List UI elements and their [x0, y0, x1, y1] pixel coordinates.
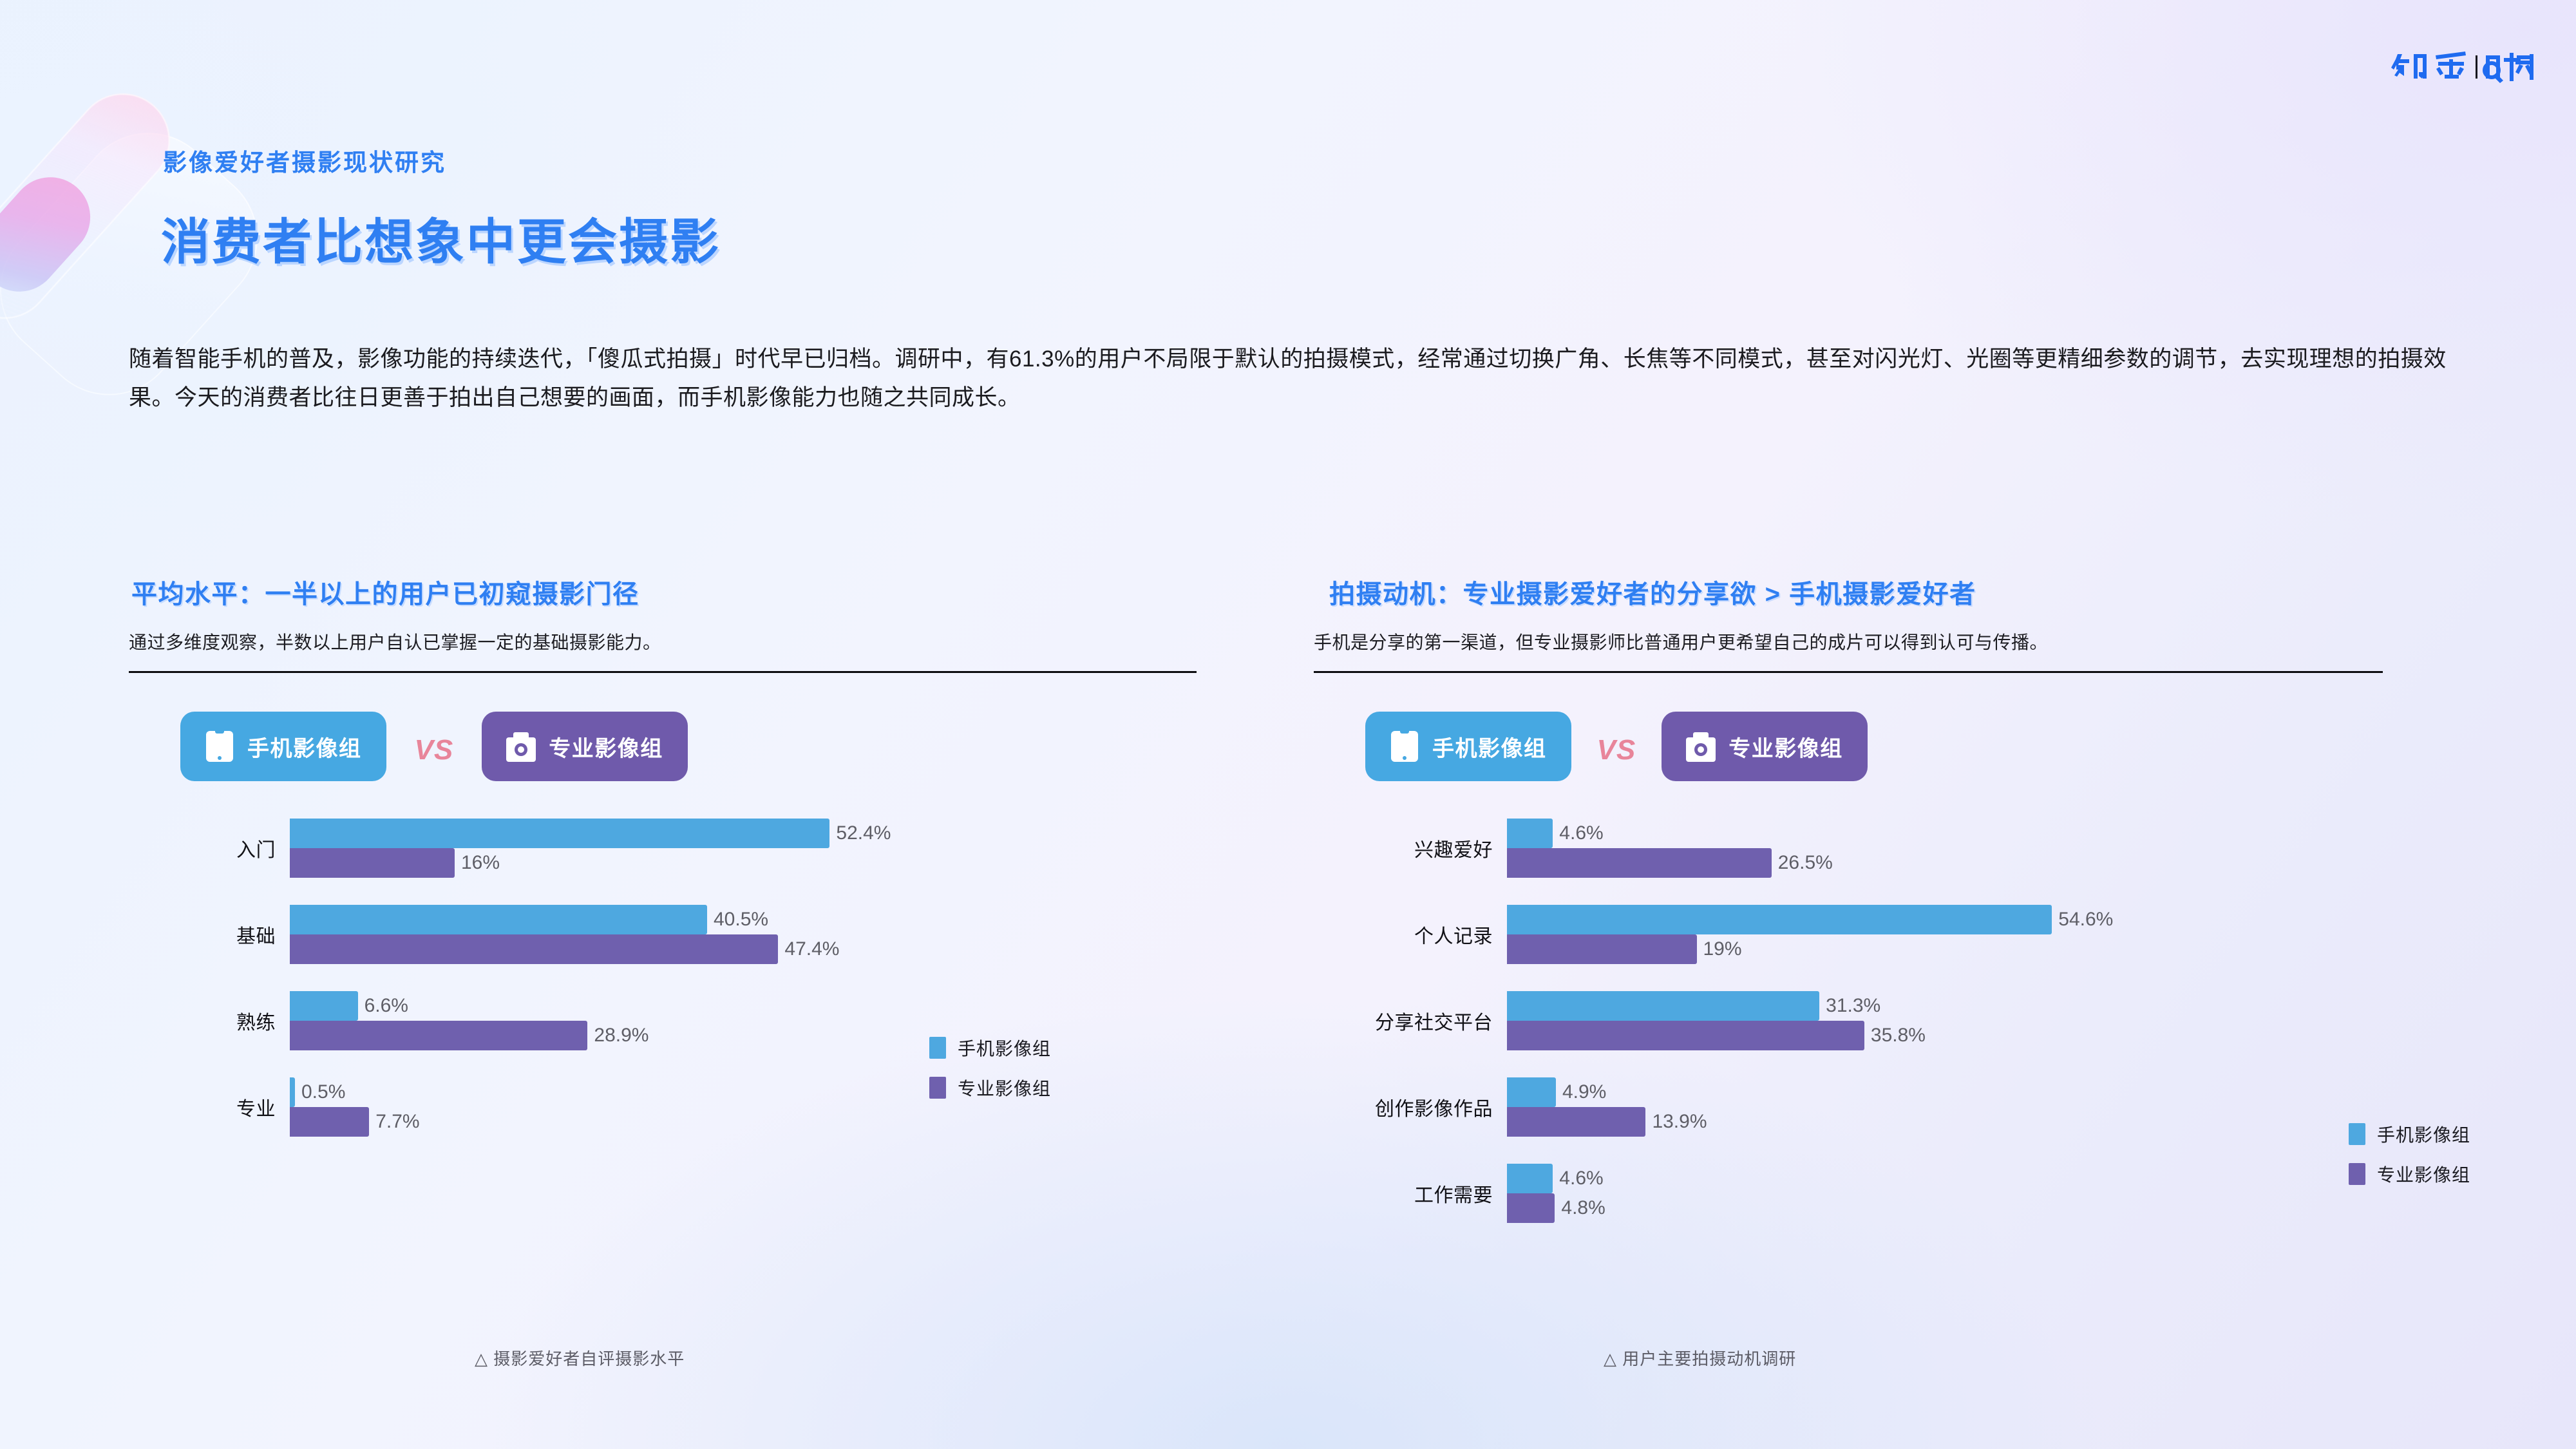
- row-spacer: [1314, 878, 2505, 905]
- legend-swatch-pro: [2349, 1163, 2365, 1185]
- bar-pair: 4.6% 26.5%: [1507, 819, 2505, 878]
- legend-label: 专业影像组: [2377, 1161, 2470, 1187]
- bar-value-label: 47.4%: [778, 938, 839, 960]
- category-label: 入门: [129, 834, 290, 862]
- category-label: 个人记录: [1314, 920, 1507, 949]
- bar-pro: 7.7%: [290, 1107, 1320, 1137]
- category-label: 基础: [129, 920, 290, 949]
- panel-subtitle: 手机是分享的第一渠道，但专业摄影师比普通用户更希望自己的成片可以得到认可与传播。: [1314, 629, 2505, 654]
- chip-phone-group[interactable]: 手机影像组: [180, 712, 386, 781]
- chip-label: 手机影像组: [1432, 731, 1547, 762]
- camera-icon: [506, 728, 536, 764]
- legend-item: 手机影像组: [2349, 1121, 2470, 1147]
- legend-item: 专业影像组: [929, 1075, 1051, 1101]
- category-label: 专业: [129, 1093, 290, 1121]
- bar-fill: [1507, 848, 1772, 878]
- chart-legend: 手机影像组 专业影像组: [2349, 1121, 2470, 1187]
- bar-value-label: 4.9%: [1556, 1081, 1606, 1103]
- bar-fill: [290, 848, 455, 878]
- logo-mark-zhihu: [2391, 46, 2539, 88]
- bar-value-label: 40.5%: [707, 909, 768, 931]
- bar-fill: [1507, 1021, 1864, 1050]
- row-spacer: [1314, 1050, 2505, 1077]
- bar-value-label: 0.5%: [295, 1081, 345, 1103]
- bar-value-label: 31.3%: [1819, 995, 1880, 1017]
- bar-value-label: 28.9%: [587, 1025, 649, 1046]
- bar-pair: 0.5% 7.7%: [290, 1077, 1320, 1137]
- row-spacer: [1314, 1137, 2505, 1164]
- chart-rows: 兴趣爱好 4.6% 26.5% 个人记录: [1314, 819, 2505, 1223]
- bar-pair: 54.6% 19%: [1507, 905, 2505, 964]
- bar-fill: [290, 934, 778, 964]
- bar-fill: [1507, 934, 1697, 964]
- bar-fill: [290, 1077, 295, 1107]
- bar-pro: 28.9%: [290, 1021, 1320, 1050]
- group-comparison-chips: 手机影像组 VS 专业影像组: [129, 712, 1320, 781]
- bar-fill: [290, 1107, 369, 1137]
- zhihu-research-logo: [2391, 46, 2539, 88]
- category-label: 创作影像作品: [1314, 1093, 1507, 1121]
- phone-icon: [1390, 728, 1419, 764]
- footnote-left: △ 摄影爱好者自评摄影水平: [475, 1346, 685, 1370]
- bar-phone: 54.6%: [1507, 905, 2505, 934]
- category-label: 工作需要: [1314, 1179, 1507, 1207]
- bar-pro: 26.5%: [1507, 848, 2505, 878]
- legend-label: 手机影像组: [958, 1035, 1051, 1061]
- bar-fill: [1507, 1077, 1556, 1107]
- bar-pro: 47.4%: [290, 934, 1320, 964]
- legend-swatch-phone: [2349, 1123, 2365, 1145]
- bar-phone: 40.5%: [290, 905, 1320, 934]
- chart-row: 专业 0.5% 7.7%: [129, 1077, 1320, 1137]
- bar-value-label: 6.6%: [358, 995, 408, 1017]
- bar-phone: 6.6%: [290, 991, 1320, 1021]
- legend-swatch-phone: [929, 1037, 946, 1059]
- group-comparison-chips: 手机影像组 VS 专业影像组: [1314, 712, 2505, 781]
- bar-pro: 19%: [1507, 934, 2505, 964]
- bar-value-label: 4.8%: [1555, 1197, 1605, 1219]
- legend-item: 专业影像组: [2349, 1161, 2470, 1187]
- bar-pair: 31.3% 35.8%: [1507, 991, 2505, 1050]
- bar-value-label: 16%: [455, 852, 500, 874]
- bar-fill: [290, 905, 707, 934]
- bar-value-label: 54.6%: [2052, 909, 2113, 931]
- category-label: 分享社交平台: [1314, 1007, 1507, 1035]
- chip-label: 专业影像组: [1728, 731, 1843, 762]
- vs-label: VS: [386, 734, 482, 766]
- bar-fill: [1507, 819, 1553, 848]
- legend-item: 手机影像组: [929, 1035, 1051, 1061]
- chart-row: 基础 40.5% 47.4%: [129, 905, 1320, 964]
- chart-legend: 手机影像组 专业影像组: [929, 1035, 1051, 1101]
- legend-swatch-pro: [929, 1077, 946, 1099]
- bar-phone: 52.4%: [290, 819, 1320, 848]
- deco-shape-front: [0, 161, 107, 308]
- bar-value-label: 4.6%: [1553, 822, 1603, 844]
- bar-phone: 4.6%: [1507, 819, 2505, 848]
- chip-phone-group[interactable]: 手机影像组: [1365, 712, 1571, 781]
- panel-shooting-motivation: 拍摄动机：专业摄影爱好者的分享欲 > 手机摄影爱好者 手机是分享的第一渠道，但专…: [1314, 573, 2505, 1223]
- panel-divider: [1314, 671, 2383, 673]
- chart-row: 创作影像作品 4.9% 13.9%: [1314, 1077, 2505, 1137]
- category-label: 兴趣爱好: [1314, 834, 1507, 862]
- chart-row: 个人记录 54.6% 19%: [1314, 905, 2505, 964]
- bar-value-label: 4.6%: [1553, 1168, 1603, 1189]
- panel-average-level: 平均水平：一半以上的用户已初窥摄影门径 通过多维度观察，半数以上用户自认已掌握一…: [129, 573, 1320, 1137]
- chip-pro-group[interactable]: 专业影像组: [482, 712, 688, 781]
- panel-title: 拍摄动机：专业摄影爱好者的分享欲 > 手机摄影爱好者: [1314, 573, 2505, 611]
- bar-pro: 16%: [290, 848, 1320, 878]
- bar-pro: 35.8%: [1507, 1021, 2505, 1050]
- bar-value-label: 52.4%: [829, 822, 891, 844]
- bar-pro: 4.8%: [1507, 1193, 2505, 1223]
- bar-pair: 40.5% 47.4%: [290, 905, 1320, 964]
- legend-label: 专业影像组: [958, 1075, 1051, 1101]
- bar-value-label: 19%: [1697, 938, 1742, 960]
- chart-rows: 入门 52.4% 16% 基础: [129, 819, 1320, 1137]
- bar-value-label: 26.5%: [1772, 852, 1833, 874]
- bar-pair: 52.4% 16%: [290, 819, 1320, 878]
- bar-value-label: 35.8%: [1864, 1025, 1926, 1046]
- chart-row: 分享社交平台 31.3% 35.8%: [1314, 991, 2505, 1050]
- row-spacer: [129, 964, 1320, 991]
- chart-row: 兴趣爱好 4.6% 26.5%: [1314, 819, 2505, 878]
- chip-label: 专业影像组: [549, 731, 663, 762]
- bar-phone: 0.5%: [290, 1077, 1320, 1107]
- bar-fill: [290, 1021, 587, 1050]
- kicker-title: 影像爱好者摄影现状研究: [163, 143, 446, 178]
- row-spacer: [129, 1050, 1320, 1077]
- phone-icon: [205, 728, 234, 764]
- camera-icon: [1686, 728, 1716, 764]
- chart-row: 入门 52.4% 16%: [129, 819, 1320, 878]
- vs-label: VS: [1571, 734, 1662, 766]
- chart-self-rated-level: 入门 52.4% 16% 基础: [129, 819, 1320, 1137]
- lead-paragraph: 随着智能手机的普及，影像功能的持续迭代，「傻瓜式拍摄」时代早已归档。调研中，有6…: [129, 340, 2454, 417]
- chart-shooting-motivation: 兴趣爱好 4.6% 26.5% 个人记录: [1314, 819, 2505, 1223]
- bar-value-label: 13.9%: [1645, 1111, 1707, 1133]
- bar-phone: 31.3%: [1507, 991, 2505, 1021]
- panel-title: 平均水平：一半以上的用户已初窥摄影门径: [129, 573, 1320, 611]
- panel-subtitle: 通过多维度观察，半数以上用户自认已掌握一定的基础摄影能力。: [129, 629, 1320, 654]
- bar-fill: [290, 991, 358, 1021]
- footnote-right: △ 用户主要拍摄动机调研: [1604, 1346, 1796, 1370]
- bar-fill: [1507, 991, 1819, 1021]
- bar-fill: [1507, 1164, 1553, 1193]
- chip-pro-group[interactable]: 专业影像组: [1662, 712, 1868, 781]
- panel-divider: [129, 671, 1197, 673]
- bar-fill: [1507, 905, 2052, 934]
- row-spacer: [1314, 964, 2505, 991]
- bar-fill: [1507, 1193, 1555, 1223]
- category-label: 熟练: [129, 1007, 290, 1035]
- row-spacer: [129, 878, 1320, 905]
- bar-fill: [290, 819, 829, 848]
- chart-row: 熟练 6.6% 28.9%: [129, 991, 1320, 1050]
- page-title: 消费者比想象中更会摄影: [161, 202, 721, 273]
- bar-value-label: 7.7%: [369, 1111, 419, 1133]
- bar-phone: 4.9%: [1507, 1077, 2505, 1107]
- chip-label: 手机影像组: [247, 731, 362, 762]
- bar-pair: 6.6% 28.9%: [290, 991, 1320, 1050]
- chart-row: 工作需要 4.6% 4.8%: [1314, 1164, 2505, 1223]
- bar-fill: [1507, 1107, 1645, 1137]
- legend-label: 手机影像组: [2377, 1121, 2470, 1147]
